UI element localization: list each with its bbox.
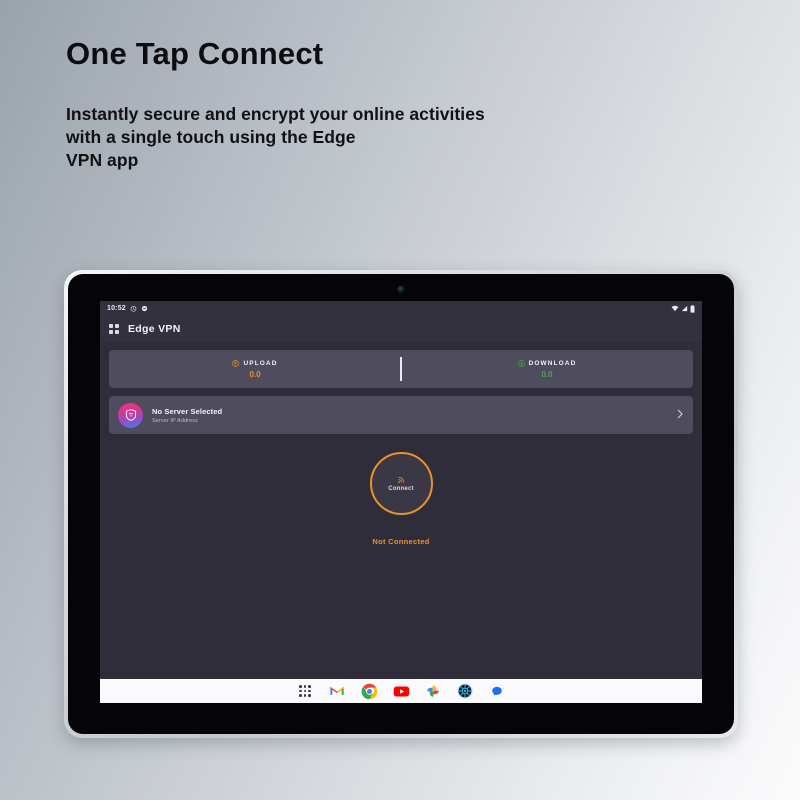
youtube-icon[interactable] xyxy=(393,683,410,700)
status-bar-left: 10:52 xyxy=(107,305,148,312)
promo-copy: One Tap Connect Instantly secure and enc… xyxy=(66,36,706,172)
upload-stat-header: UPLOAD xyxy=(232,360,277,367)
shield-glyph-icon xyxy=(124,408,138,422)
upload-stat: UPLOAD 0.0 xyxy=(109,360,401,379)
status-clock: 10:52 xyxy=(107,305,126,312)
app-title: Edge VPN xyxy=(128,323,181,335)
connect-button[interactable]: Connect xyxy=(370,452,433,515)
download-stat-header: DOWNLOAD xyxy=(518,360,577,367)
app-bar: Edge VPN xyxy=(100,316,702,342)
battery-icon xyxy=(690,305,695,313)
google-photos-icon[interactable] xyxy=(425,683,442,700)
connect-section: Connect Not Connected xyxy=(100,452,702,546)
server-selector-row[interactable]: No Server Selected Server IP Address xyxy=(109,396,693,434)
duo-meet-icon[interactable] xyxy=(457,683,474,700)
front-camera-icon xyxy=(398,286,405,293)
dnd-icon xyxy=(141,305,148,312)
wifi-icon xyxy=(671,305,679,312)
cellular-signal-icon xyxy=(681,305,688,312)
status-bar-right xyxy=(671,305,695,313)
upload-value: 0.0 xyxy=(249,370,260,379)
device-screen: 10:52 xyxy=(100,301,702,703)
server-name: No Server Selected xyxy=(152,407,222,416)
all-apps-icon[interactable] xyxy=(297,683,314,700)
app-content: UPLOAD 0.0 DOWNLOAD 0.0 xyxy=(100,342,702,679)
messages-icon[interactable] xyxy=(489,683,506,700)
grid-menu-icon[interactable] xyxy=(109,324,119,334)
system-dock xyxy=(100,679,702,703)
traffic-stats-card: UPLOAD 0.0 DOWNLOAD 0.0 xyxy=(109,350,693,388)
signal-wave-icon xyxy=(397,475,406,484)
chrome-icon[interactable] xyxy=(361,683,378,700)
download-label: DOWNLOAD xyxy=(529,360,577,367)
download-value: 0.0 xyxy=(541,370,552,379)
stats-divider xyxy=(400,357,402,381)
gmail-icon[interactable] xyxy=(329,683,346,700)
download-circle-icon xyxy=(518,360,525,367)
download-stat: DOWNLOAD 0.0 xyxy=(401,360,693,379)
tablet-device: 10:52 xyxy=(64,270,738,738)
page-title: One Tap Connect xyxy=(66,36,706,72)
chevron-right-icon[interactable] xyxy=(676,406,684,424)
shield-icon xyxy=(118,403,143,428)
connection-status: Not Connected xyxy=(372,537,429,546)
upload-circle-icon xyxy=(232,360,239,367)
server-info: No Server Selected Server IP Address xyxy=(152,407,222,424)
alarm-icon xyxy=(130,305,137,312)
connect-button-label: Connect xyxy=(388,486,413,492)
tablet-bezel: 10:52 xyxy=(68,274,734,734)
upload-label: UPLOAD xyxy=(243,360,277,367)
server-ip: Server IP Address xyxy=(152,418,222,424)
status-bar: 10:52 xyxy=(100,301,702,316)
page-subtitle: Instantly secure and encrypt your online… xyxy=(66,103,706,173)
